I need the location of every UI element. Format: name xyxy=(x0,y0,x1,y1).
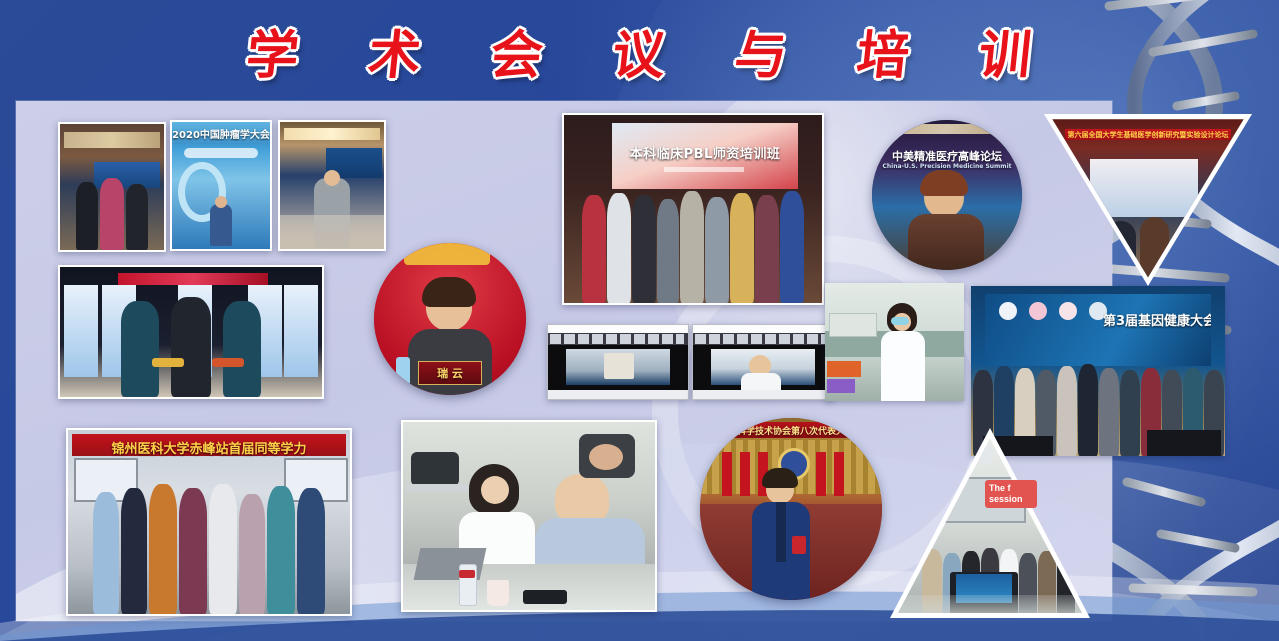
photo-2020-china-oncology-congress[interactable]: 2020中国肿瘤学大会 xyxy=(170,120,272,251)
photo-caption-en: China-U.S. Precision Medicine Summit xyxy=(872,163,1022,170)
status-badge-session-tag: The f session xyxy=(985,480,1037,508)
photo-phone-screenshot-lab-interview[interactable] xyxy=(692,324,834,400)
photo-caption: 区科学技术协会第八次代表大会 xyxy=(704,424,878,437)
photo-caption: 第3届基因健康大会 xyxy=(1103,310,1211,329)
status-badge-label: The f session xyxy=(989,483,1023,504)
photo-china-us-precision-medicine-summit[interactable]: 中美精准医疗高峰论坛 China-U.S. Precision Medicine… xyxy=(872,120,1022,270)
photo-third-gene-health-conference-group[interactable]: 第3届基因健康大会 xyxy=(971,286,1225,456)
photo-speaker-portrait-circle[interactable]: 07.1 瑞 云 xyxy=(374,243,526,395)
photo-auditorium-woman-standing[interactable] xyxy=(278,120,386,251)
photo-conference-hall-three-women[interactable] xyxy=(58,122,166,252)
photo-jinzhou-medical-university-chifeng-group[interactable]: 锦州医科大学赤峰站首届同等学力 xyxy=(66,428,352,616)
photo-nameplate: 瑞 云 xyxy=(374,365,526,381)
photo-caption: 锦州医科大学赤峰站首届同等学力 xyxy=(72,438,346,457)
photo-computer-training-session[interactable] xyxy=(401,420,657,612)
photo-laboratory-researcher[interactable] xyxy=(825,283,964,401)
photo-rollup-banners-three-people[interactable] xyxy=(58,265,324,399)
poster-canvas: 学 术 会 议 与 培 训 2020中国肿瘤学大会 xyxy=(0,0,1279,641)
photo-phone-screenshot-campus-gate[interactable] xyxy=(547,324,689,400)
photo-caption: 第六届全国大学生基础医学创新研究暨实验设计论坛 xyxy=(1065,129,1231,140)
photo-caption: 2020中国肿瘤学大会 xyxy=(172,126,270,141)
photo-pbl-faculty-training-group[interactable]: 本科临床PBL师资培训班 xyxy=(562,113,824,305)
photo-science-technology-association-congress[interactable]: 区科学技术协会第八次代表大会 xyxy=(700,418,882,600)
photo-caption: 中美精准医疗高峰论坛 xyxy=(872,148,1022,164)
photo-caption: 本科临床PBL师资培训班 xyxy=(612,143,798,162)
